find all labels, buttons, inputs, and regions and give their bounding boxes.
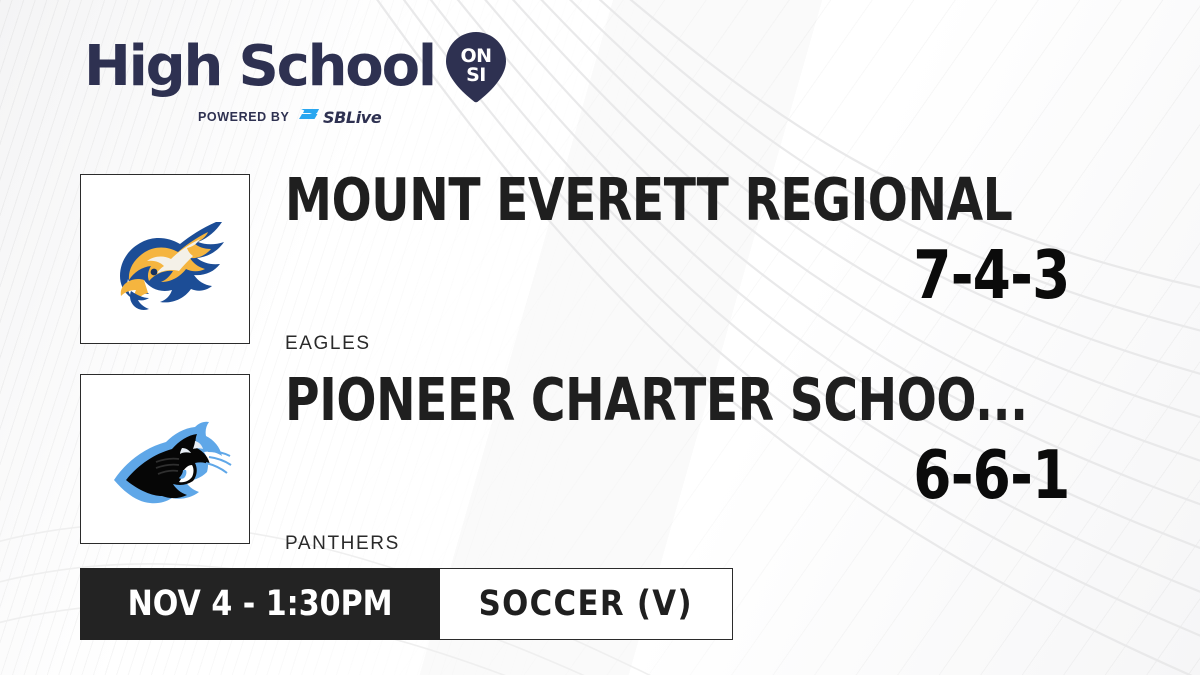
powered-by-label: POWERED BY [198, 110, 289, 124]
team-name-home: MOUNT EVERETT REGIONAL [285, 170, 1012, 229]
brand-wordmark: High School [84, 39, 435, 95]
team-record-away: 6-6-1 [913, 442, 1069, 509]
game-sport-label: SOCCER (V) [479, 587, 693, 622]
game-sport-box: SOCCER (V) [440, 568, 732, 640]
powered-by-row: POWERED BY SBLive [198, 106, 514, 128]
team-name-away: PIONEER CHARTER SCHOO... [285, 370, 1028, 429]
sblive-logo: SBLive [297, 106, 401, 128]
brand-row: High School ON SI [84, 34, 514, 100]
game-datetime-box: NOV 4 - 1:30PM [80, 568, 440, 640]
pin-text-si: SI [466, 64, 486, 86]
eagle-head-logo [90, 184, 240, 334]
team-logo-box-home [80, 174, 250, 344]
game-datetime-label: NOV 4 - 1:30PM [128, 587, 393, 622]
brand-header: High School ON SI POWERED BY SBLive [84, 34, 514, 128]
sblive-wordmark: SBLive [323, 108, 382, 127]
team-mascot-home: EAGLES [285, 333, 371, 355]
team-record-home: 7-4-3 [913, 242, 1069, 309]
team-mascot-away: PANTHERS [285, 533, 400, 555]
matchup-graphic: High School ON SI POWERED BY SBLive [0, 0, 1200, 675]
on-si-pin-icon: ON SI [445, 31, 507, 103]
team-logo-box-away [80, 374, 250, 544]
panther-head-logo [90, 384, 240, 534]
game-info-bar: NOV 4 - 1:30PM SOCCER (V) [80, 568, 733, 640]
